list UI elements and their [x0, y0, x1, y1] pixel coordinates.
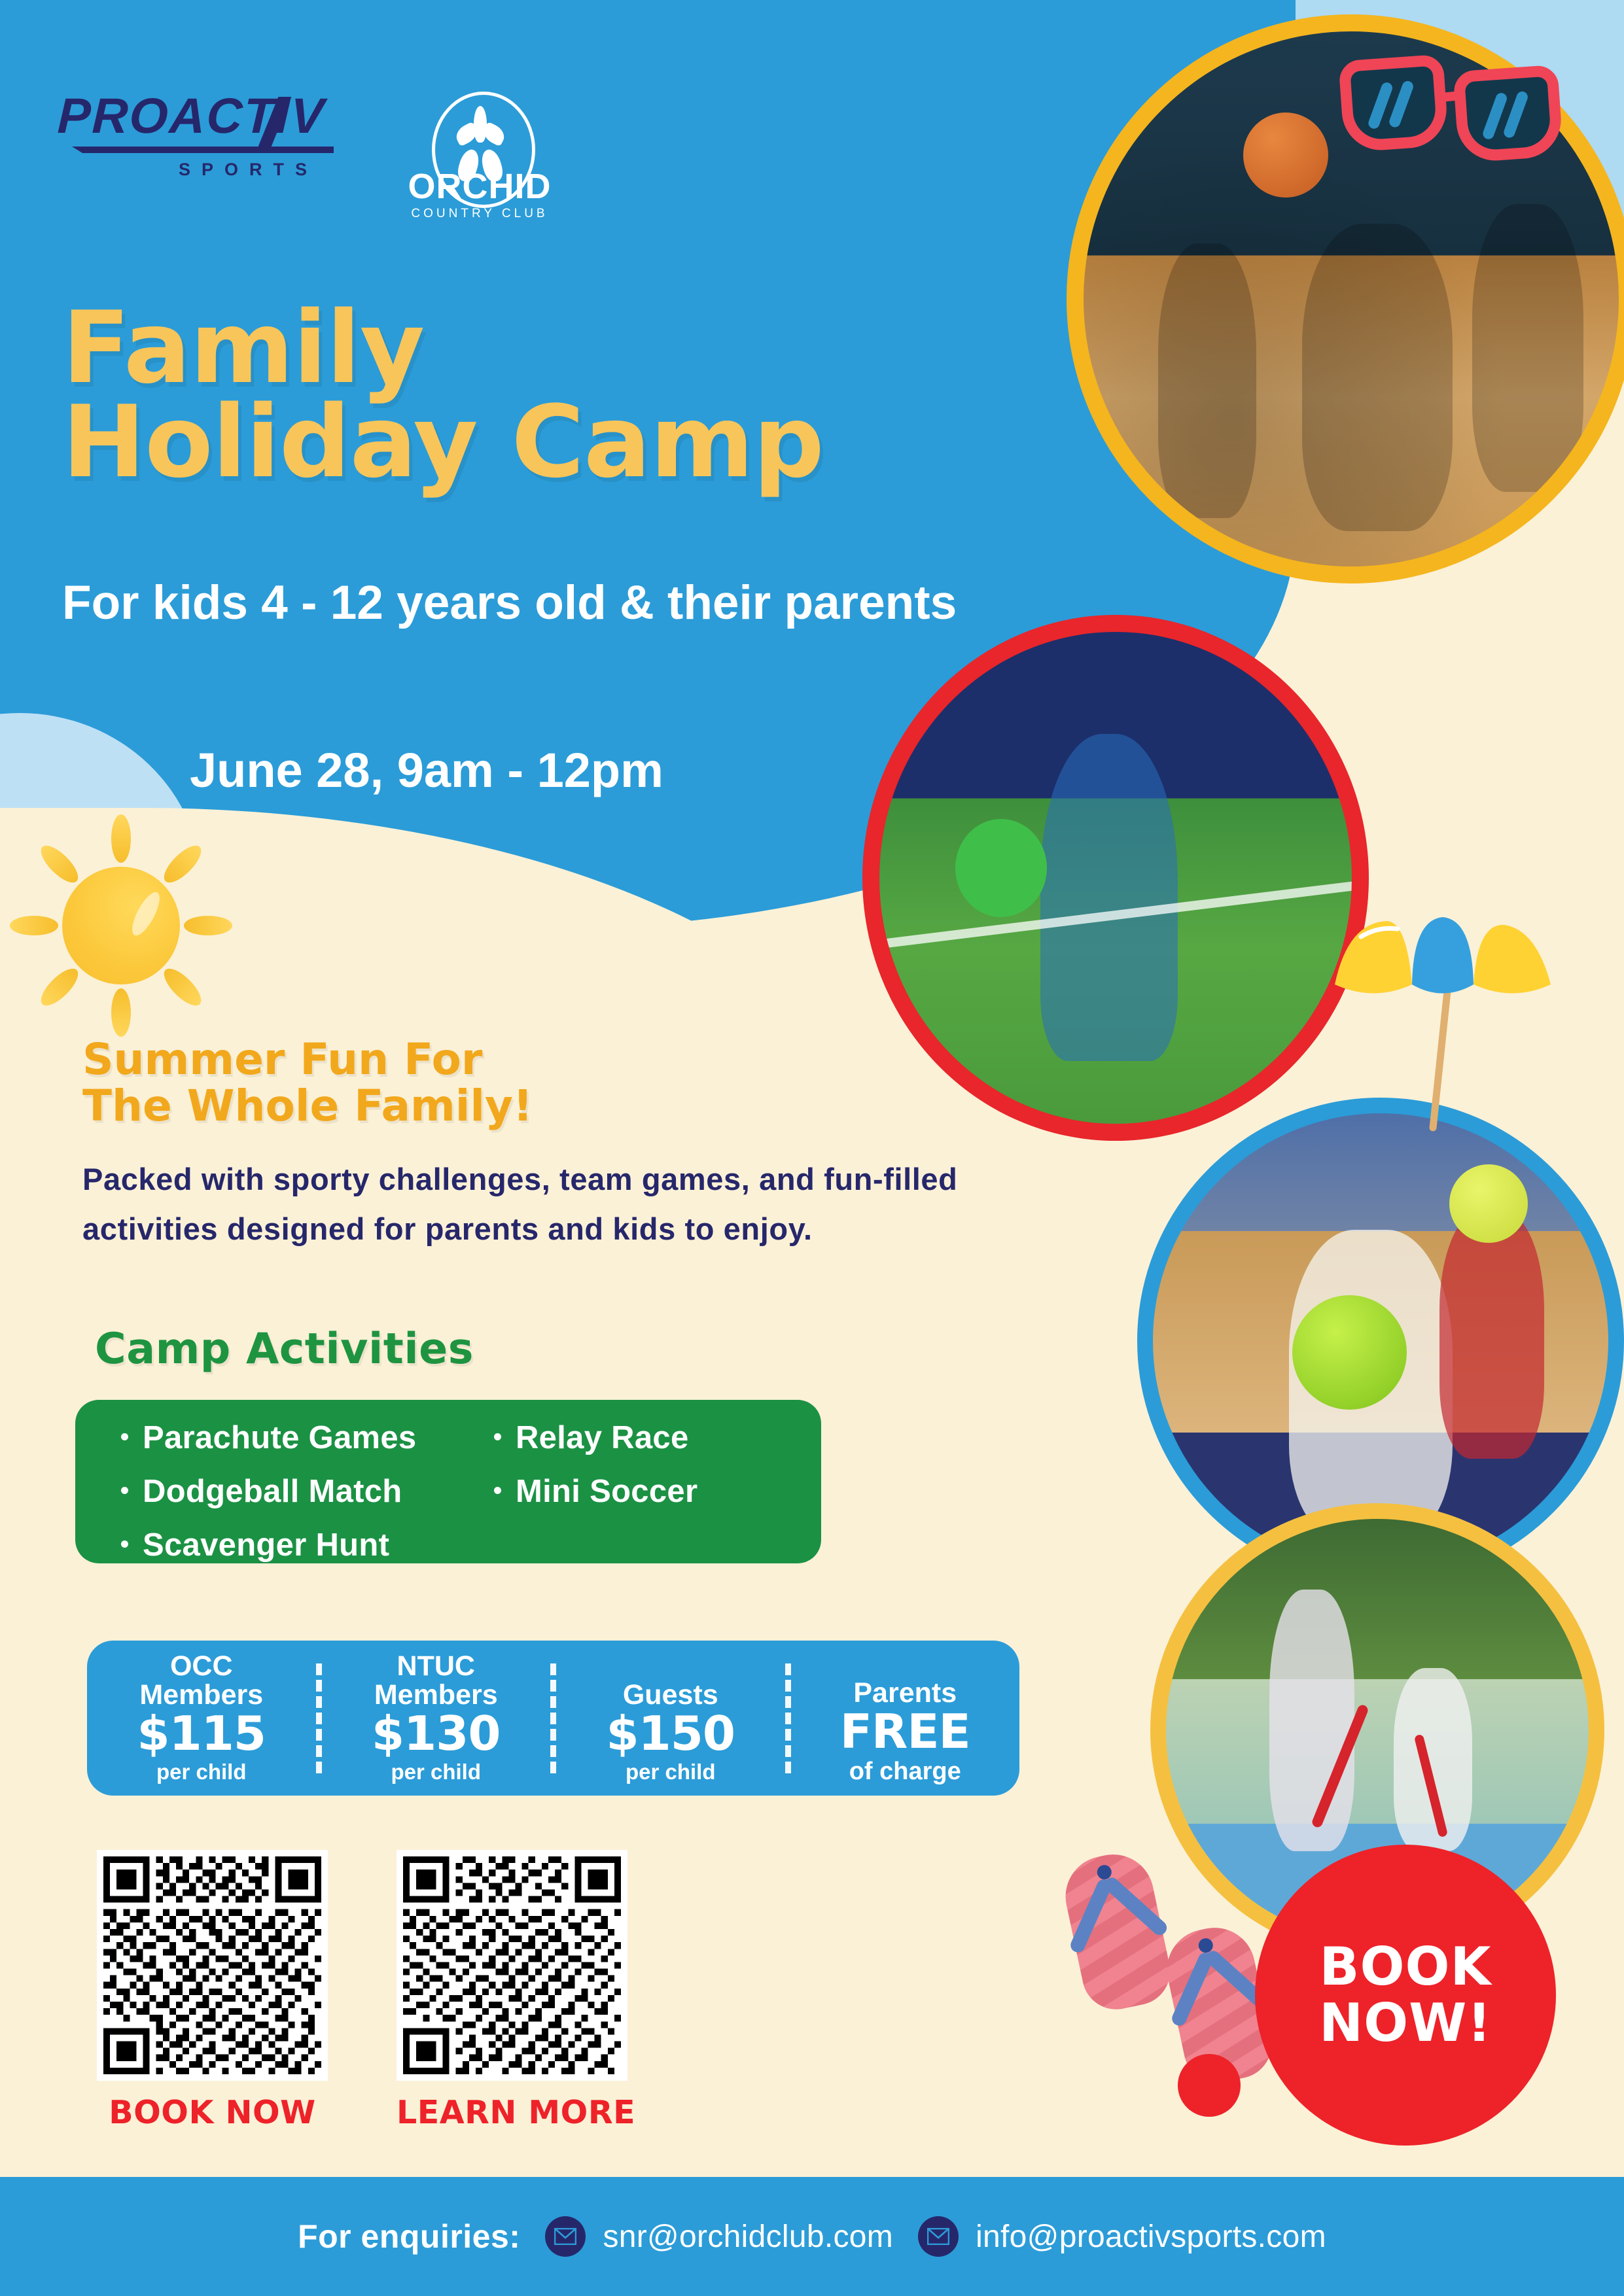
price-label: NTUC Members [326, 1652, 547, 1710]
bullet-icon [494, 1433, 501, 1440]
price-note: per child [91, 1759, 312, 1785]
price-label: OCC Members [91, 1652, 312, 1710]
page-title: Family Holiday Camp [62, 301, 1083, 490]
envelope-icon [918, 2216, 959, 2257]
qr-code-book-now[interactable] [97, 1850, 328, 2081]
price-cell-occ-members: OCC Members $115 per child [87, 1652, 316, 1785]
price-label: Guests [560, 1652, 781, 1710]
footer-label: For enquiries: [298, 2218, 520, 2255]
intro-paragraph: Packed with sporty challenges, team game… [82, 1155, 979, 1254]
price-label: Parents [795, 1650, 1016, 1708]
title-line-2: Holiday Camp [62, 395, 1083, 489]
bullet-icon [494, 1487, 501, 1494]
footer-bar: For enquiries: snr@orchidclub.com info@p… [0, 2177, 1624, 2296]
price-divider [316, 1663, 322, 1773]
hero-subtitle: For kids 4 - 12 years old & their parent… [62, 576, 998, 631]
qr-label-book-now: BOOK NOW [97, 2094, 328, 2131]
qr-block-learn-more[interactable]: LEARN MORE [397, 1850, 635, 2131]
camp-activities-heading: Camp Activities [95, 1325, 474, 1374]
price-divider [785, 1663, 791, 1773]
orchid-wordmark: ORCHID [385, 169, 574, 204]
price-amount: $150 [560, 1709, 781, 1759]
activities-column-right: Relay Race Mini Soccer [494, 1422, 782, 1529]
qr-label-learn-more: LEARN MORE [397, 2094, 635, 2131]
price-amount: $115 [91, 1709, 312, 1759]
price-cell-ntuc-members: NTUC Members $130 per child [322, 1652, 551, 1785]
bullet-icon [121, 1487, 128, 1494]
email-address[interactable]: info@proactivsports.com [976, 2219, 1326, 2255]
qr-code-learn-more[interactable] [397, 1850, 627, 2081]
price-divider [550, 1663, 556, 1773]
proactiv-sub-wordmark: SPORTS [179, 160, 318, 180]
proactiv-wordmark: PROACTIV [57, 92, 340, 141]
contact-email-proactiv[interactable]: info@proactivsports.com [918, 2216, 1326, 2257]
summer-heading-line-2: The Whole Family! [82, 1083, 802, 1130]
logo-row: PROACTIV SPORTS ORCHID COUNTRY CLUB [58, 92, 574, 219]
pricing-bar: OCC Members $115 per child NTUC Members … [87, 1641, 1019, 1796]
book-now-line-2: NOW! [1319, 1992, 1492, 2053]
proactiv-logo: PROACTIV SPORTS [58, 92, 339, 177]
bullet-icon [121, 1433, 128, 1440]
orchid-country-club-logo: ORCHID COUNTRY CLUB [385, 92, 574, 219]
activities-column-left: Parachute Games Dodgeball Match Scavenge… [121, 1422, 487, 1583]
envelope-icon [545, 2216, 586, 2257]
list-item: Scavenger Hunt [121, 1529, 487, 1561]
activity-label: Scavenger Hunt [143, 1529, 389, 1561]
sunglasses-icon [1341, 46, 1583, 170]
price-note: per child [560, 1759, 781, 1785]
qr-code-row: BOOK NOW [97, 1850, 635, 2131]
summer-heading-line-1: Summer Fun For [82, 1037, 802, 1083]
price-amount: $130 [326, 1709, 547, 1759]
price-amount: FREE [795, 1707, 1016, 1757]
activity-label: Parachute Games [143, 1422, 417, 1454]
contact-email-orchid[interactable]: snr@orchidclub.com [545, 2216, 893, 2257]
beach-umbrella-icon [1335, 903, 1551, 1132]
price-cell-parents: Parents FREE of charge [791, 1650, 1020, 1787]
book-now-badge[interactable]: BOOK NOW! [1255, 1845, 1556, 2146]
summer-fun-heading: Summer Fun For The Whole Family! [82, 1037, 802, 1129]
red-dot-decoration [1178, 2054, 1241, 2117]
photo-ring-red [862, 615, 1369, 1141]
list-item: Mini Soccer [494, 1476, 782, 1508]
price-note: of charge [795, 1757, 1016, 1787]
activity-label: Mini Soccer [516, 1476, 697, 1508]
activity-label: Relay Race [516, 1422, 689, 1454]
list-item: Relay Race [494, 1422, 782, 1454]
activity-label: Dodgeball Match [143, 1476, 402, 1508]
orchid-tagline: COUNTRY CLUB [385, 207, 574, 221]
title-line-1: Family [62, 301, 1083, 395]
price-note: per child [326, 1759, 547, 1785]
list-item: Parachute Games [121, 1422, 487, 1454]
price-cell-guests: Guests $150 per child [556, 1652, 785, 1785]
camp-activities-box: Parachute Games Dodgeball Match Scavenge… [75, 1400, 821, 1563]
email-address[interactable]: snr@orchidclub.com [603, 2219, 893, 2255]
sun-icon [23, 827, 219, 1024]
list-item: Dodgeball Match [121, 1476, 487, 1508]
qr-block-book-now[interactable]: BOOK NOW [97, 1850, 328, 2131]
book-now-line-1: BOOK [1320, 1936, 1492, 1997]
bullet-icon [121, 1540, 128, 1548]
poster-root: PROACTIV SPORTS ORCHID COUNTRY CLUB Fami… [0, 0, 1624, 2296]
